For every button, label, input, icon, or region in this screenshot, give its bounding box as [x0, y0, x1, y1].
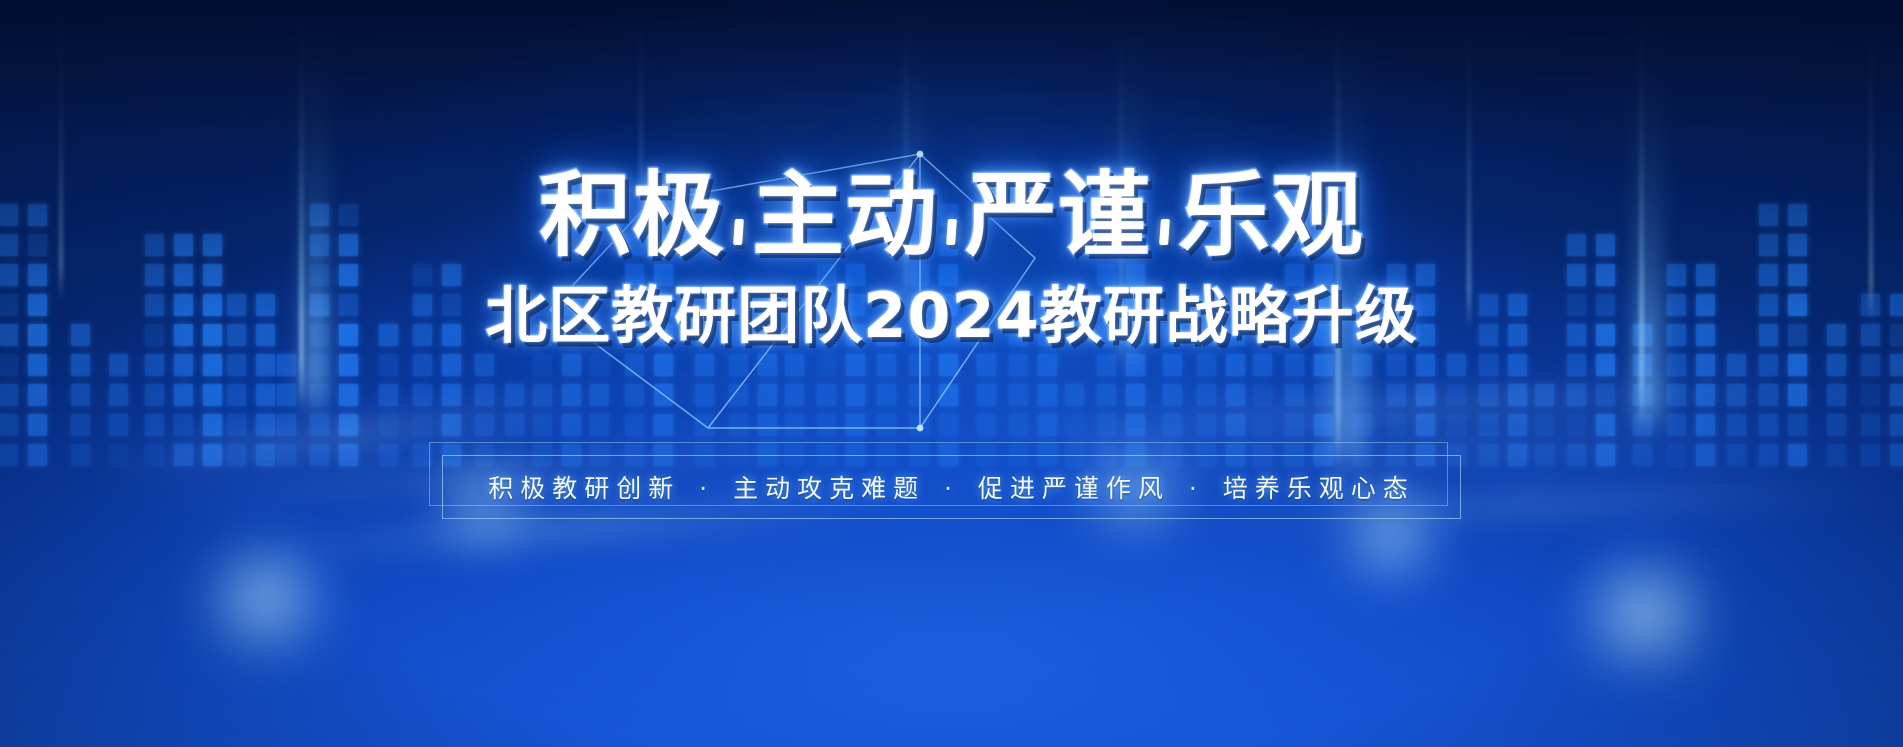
tagline-text: 积极教研创新 · 主动攻克难题 · 促进严谨作风 · 培养乐观心态	[488, 469, 1415, 505]
title-word-4: 乐观	[1178, 170, 1364, 262]
tagline-container: 积极教研创新 · 主动攻克难题 · 促进严谨作风 · 培养乐观心态	[0, 455, 1903, 519]
subtitle: 北区教研团队2024教研战略升级	[0, 265, 1903, 355]
tagline-box: 积极教研创新 · 主动攻克难题 · 促进严谨作风 · 培养乐观心态	[442, 455, 1461, 519]
title-word-3: 严谨	[965, 170, 1151, 262]
tagline-item: 促进严谨作风	[978, 474, 1170, 503]
banner-content: 积极 主动 严谨 乐观 北区教研团队2024教研战略升级 积极教研创新 · 主动…	[0, 0, 1903, 747]
tagline-separator: ·	[925, 474, 978, 503]
title-word-1: 积极	[539, 170, 725, 262]
main-title: 积极 主动 严谨 乐观	[0, 170, 1903, 262]
title-word-2: 主动	[752, 170, 938, 262]
tagline-separator: ·	[1170, 474, 1223, 503]
title-separator-dot-2	[946, 219, 957, 245]
promo-banner: 积极 主动 严谨 乐观 北区教研团队2024教研战略升级 积极教研创新 · 主动…	[0, 0, 1903, 747]
tagline-item: 培养乐观心态	[1223, 474, 1415, 503]
title-separator-dot-1	[733, 219, 744, 245]
tagline-item: 主动攻克难题	[733, 474, 925, 503]
title-separator-dot-3	[1159, 219, 1170, 245]
tagline-separator: ·	[680, 474, 733, 503]
tagline-item: 积极教研创新	[488, 474, 680, 503]
